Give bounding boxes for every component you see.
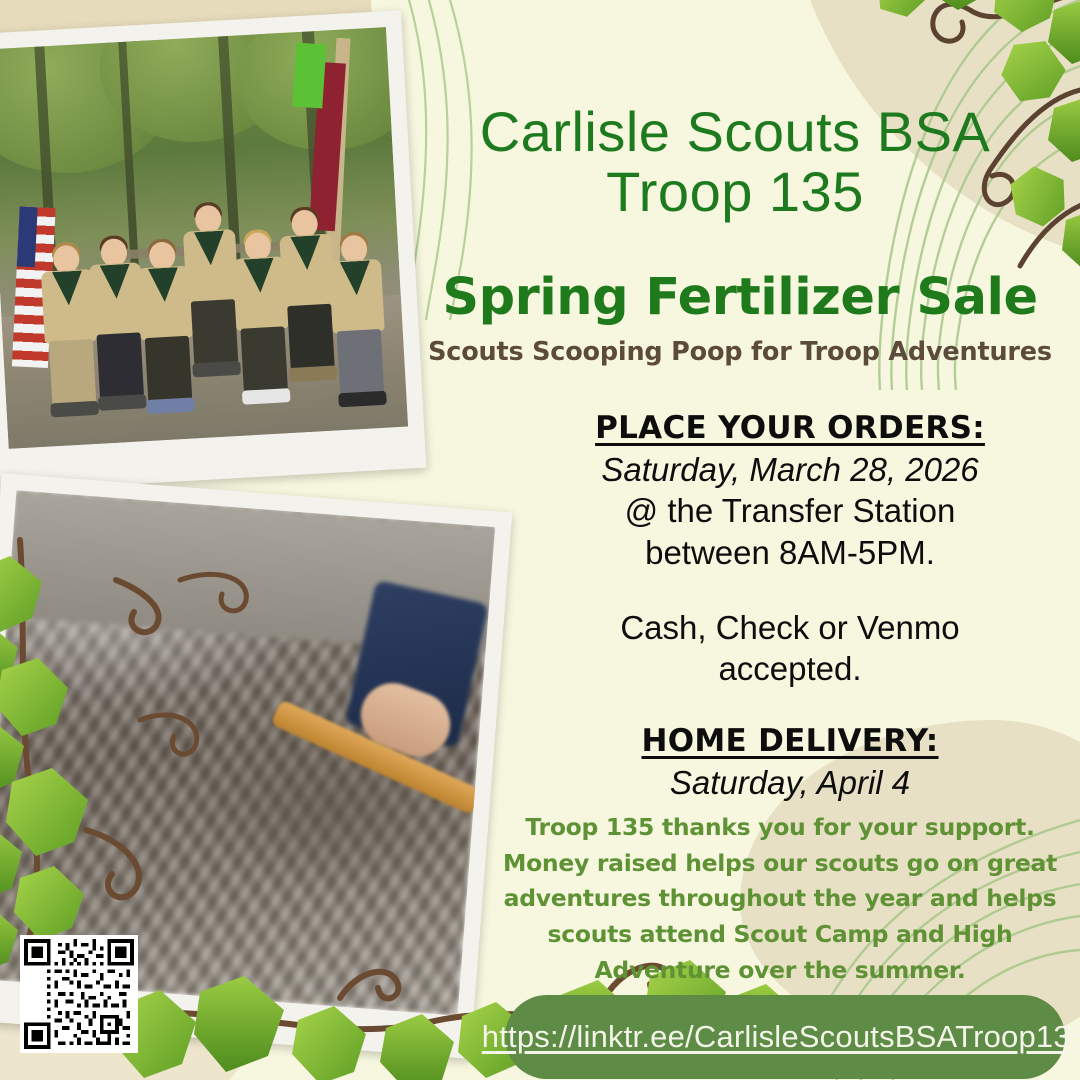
- subheadline: Scouts Scooping Poop for Troop Adventure…: [400, 337, 1080, 367]
- delivery-heading: HOME DELIVERY:: [641, 723, 938, 759]
- orders-date: Saturday, March 28, 2026: [510, 450, 1070, 490]
- linktree-url-text[interactable]: https://linktr.ee/CarlisleScoutsBSATroop…: [482, 1019, 1080, 1055]
- page-title: Carlisle Scouts BSA Troop 135: [400, 102, 1070, 223]
- orders-location: @ the Transfer Station: [510, 490, 1070, 531]
- event-details: PLACE YOUR ORDERS: Saturday, March 28, 2…: [510, 410, 1070, 804]
- orders-hours: between 8AM-5PM.: [510, 532, 1070, 573]
- orders-heading: PLACE YOUR ORDERS:: [595, 410, 985, 446]
- text-column: Carlisle Scouts BSA Troop 135 Spring Fer…: [400, 0, 1080, 1080]
- flyer-canvas: Carlisle Scouts BSA Troop 135 Spring Fer…: [0, 0, 1080, 1080]
- thank-you-message: Troop 135 thanks you for your support. M…: [490, 810, 1070, 989]
- delivery-date: Saturday, April 4: [510, 763, 1070, 803]
- title-line-2: Troop 135: [400, 162, 1070, 222]
- payment-line-2: accepted.: [510, 648, 1070, 689]
- scouts-photo-image: [0, 27, 408, 449]
- qr-code[interactable]: [20, 935, 138, 1053]
- linktree-url-banner[interactable]: https://linktr.ee/CarlisleScoutsBSATroop…: [505, 995, 1065, 1079]
- payment-line-1: Cash, Check or Venmo: [510, 607, 1070, 648]
- headline: Spring Fertilizer Sale: [400, 268, 1080, 327]
- scouts-group-photo: [0, 10, 426, 491]
- title-line-1: Carlisle Scouts BSA: [400, 102, 1070, 162]
